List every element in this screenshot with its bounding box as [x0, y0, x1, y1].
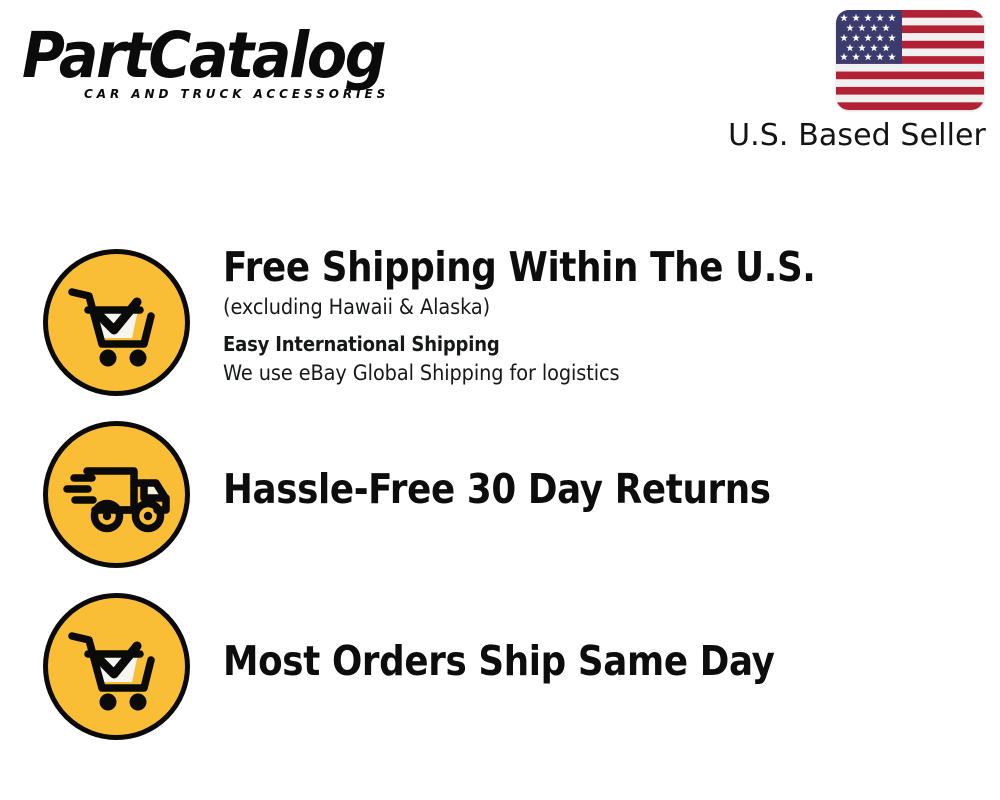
feature-row: Free Shipping Within The U.S. (excluding… [0, 232, 1000, 404]
page-header: PartCatalog CAR AND TRUCK ACCESSORIES [0, 0, 1000, 165]
shopping-cart-check-icon [43, 593, 190, 740]
feature-row: Hassle-Free 30 Day Returns [0, 404, 1000, 576]
feature-subline-international-detail: We use eBay Global Shipping for logistic… [223, 358, 922, 388]
delivery-truck-icon [43, 421, 190, 568]
feature-row: Most Orders Ship Same Day [0, 576, 1000, 748]
feature-text-block: Most Orders Ship Same Day [223, 638, 983, 684]
us-flag-icon [836, 10, 984, 110]
feature-text-block: Hassle-Free 30 Day Returns [223, 466, 983, 512]
feature-subline-exclusions: (excluding Hawaii & Alaska) [223, 292, 922, 322]
seller-location-label: U.S. Based Seller [728, 118, 986, 154]
feature-headline: Free Shipping Within The U.S. [223, 244, 884, 290]
feature-text-block: Free Shipping Within The U.S. (excluding… [223, 244, 983, 388]
brand-wordmark: PartCatalog [22, 22, 459, 90]
feature-headline: Most Orders Ship Same Day [223, 638, 884, 684]
shopping-cart-check-icon [43, 249, 190, 396]
feature-headline: Hassle-Free 30 Day Returns [223, 466, 884, 512]
brand-tagline: CAR AND TRUCK ACCESSORIES [84, 86, 476, 101]
feature-subline-international-title: Easy International Shipping [223, 330, 907, 358]
brand-logo[interactable]: PartCatalog CAR AND TRUCK ACCESSORIES [22, 22, 492, 112]
